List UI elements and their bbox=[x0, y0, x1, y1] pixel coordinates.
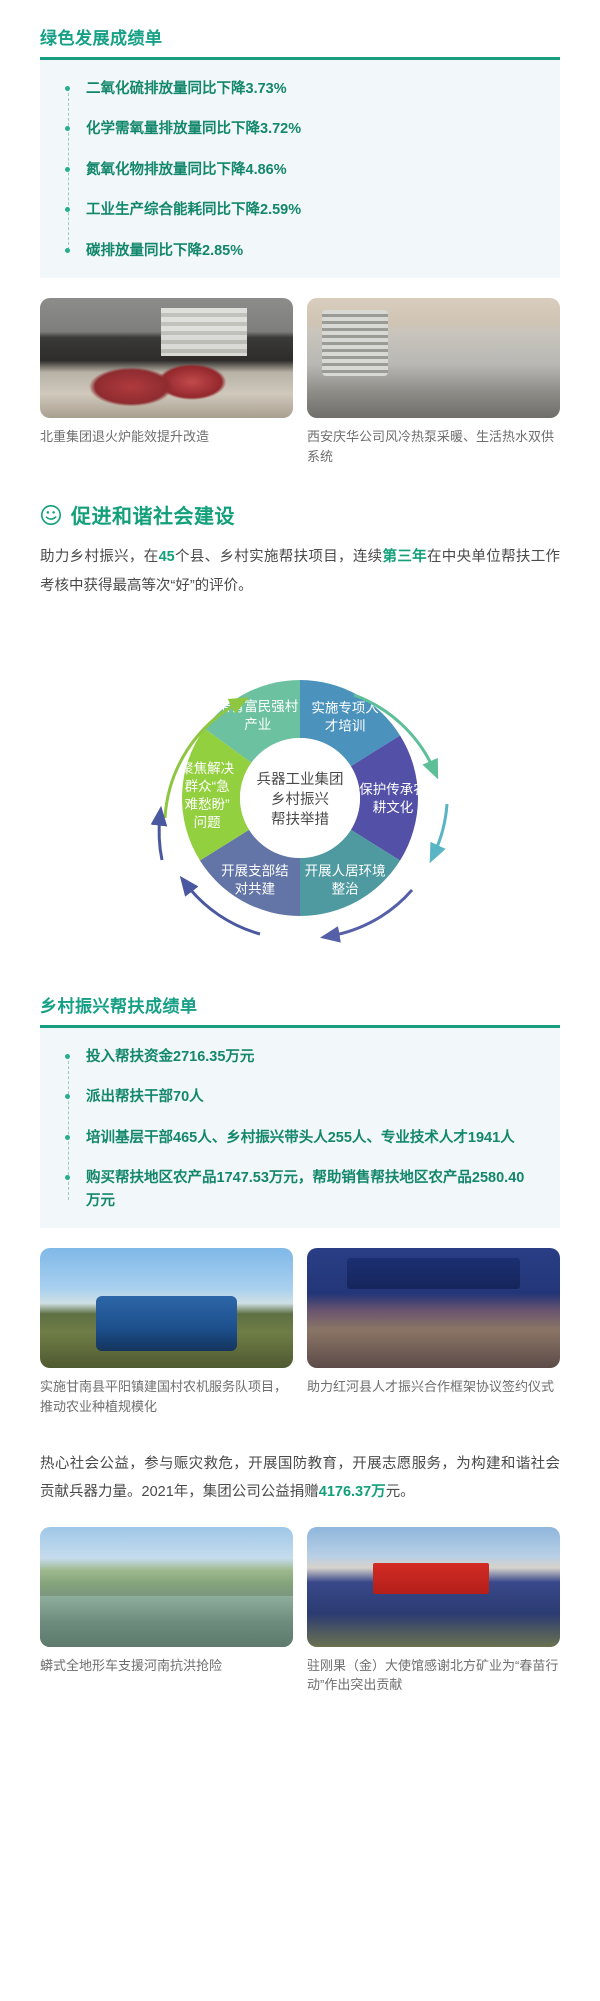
rural-scorecard-title: 乡村振兴帮扶成绩单 bbox=[40, 992, 600, 1017]
para-text: 元。 bbox=[386, 1484, 415, 1500]
harmony-section-heading: 促进和谐社会建设 bbox=[40, 500, 560, 529]
flow-arrow-6 bbox=[159, 816, 162, 860]
photo-cell: 蟒式全地形车支援河南抗洪抢险 bbox=[40, 1527, 293, 1695]
green-scorecard-title: 绿色发展成绩单 bbox=[40, 24, 600, 49]
green-scorecard-list: 二氧化硫排放量同比下降3.73% 化学需氧量排放量同比下降3.72% 氮氧化物排… bbox=[40, 78, 560, 262]
wheel-center-line-2: 乡村振兴 bbox=[271, 791, 329, 808]
photo-caption: 西安庆华公司风冷热泵采暖、生活热水双供系统 bbox=[307, 427, 560, 466]
report-page: 绿色发展成绩单 二氧化硫排放量同比下降3.73% 化学需氧量排放量同比下降3.7… bbox=[0, 0, 600, 2001]
list-item: 工业生产综合能耗同比下降2.59% bbox=[64, 199, 534, 221]
rural-revitalization-wheel: 兵器工业集团 乡村振兴 帮扶举措 培育富民强村产业实施专项人才培训保护传承农耕文… bbox=[0, 618, 600, 958]
smiley-face-icon bbox=[40, 504, 62, 526]
rural-photo-row: 实施甘南县平阳镇建国村农机服务队项目，推动农业种植规模化 助力红河县人才振兴合作… bbox=[40, 1248, 560, 1416]
list-item: 碳排放量同比下降2.85% bbox=[64, 240, 534, 262]
harmony-section-title: 促进和谐社会建设 bbox=[71, 500, 235, 529]
photo-caption: 助力红河县人才振兴合作框架协议签约仪式 bbox=[307, 1377, 560, 1397]
vaccination-photo bbox=[307, 1527, 560, 1647]
green-scorecard-panel: 二氧化硫排放量同比下降3.73% 化学需氧量排放量同比下降3.72% 氮氧化物排… bbox=[40, 60, 560, 278]
photo-cell: 西安庆华公司风冷热泵采暖、生活热水双供系统 bbox=[307, 298, 560, 466]
factory-furnace-photo bbox=[40, 298, 293, 418]
charity-paragraph: 热心社会公益，参与赈灾救危，开展国防教育，开展志愿服务，为构建和谐社会贡献兵器力… bbox=[40, 1450, 560, 1507]
photo-caption: 实施甘南县平阳镇建国村农机服务队项目，推动农业种植规模化 bbox=[40, 1377, 293, 1416]
para-highlight: 4176.37万 bbox=[319, 1484, 386, 1500]
list-item: 购买帮扶地区农产品1747.53万元，帮助销售帮扶地区农产品2580.40万元 bbox=[64, 1167, 534, 1212]
list-item: 化学需氧量排放量同比下降3.72% bbox=[64, 118, 534, 140]
signing-ceremony-photo bbox=[307, 1248, 560, 1368]
para-text: 热心社会公益，参与赈灾救危，开展国防教育，开展志愿服务，为构建和谐社会贡献兵器力… bbox=[40, 1456, 560, 1500]
wheel-segment-label-line: 开展支部结 bbox=[221, 863, 289, 878]
rural-scorecard-list: 投入帮扶资金2716.35万元 派出帮扶干部70人 培训基层干部465人、乡村振… bbox=[40, 1046, 560, 1212]
wheel-segment-label-line: 对共建 bbox=[235, 881, 276, 896]
harmony-paragraph: 助力乡村振兴，在45个县、乡村实施帮扶项目，连续第三年在中央单位帮扶工作考核中获… bbox=[40, 543, 560, 600]
wheel-diagram-svg: 兵器工业集团 乡村振兴 帮扶举措 培育富民强村产业实施专项人才培训保护传承农耕文… bbox=[90, 618, 510, 958]
wheel-segment-label-line: 产业 bbox=[244, 717, 271, 732]
list-item: 二氧化硫排放量同比下降3.73% bbox=[64, 78, 534, 100]
para-text: 助力乡村振兴，在 bbox=[40, 549, 159, 565]
flood-rescue-photo bbox=[40, 1527, 293, 1647]
photo-cell: 实施甘南县平阳镇建国村农机服务队项目，推动农业种植规模化 bbox=[40, 1248, 293, 1416]
flow-arrow-3 bbox=[434, 804, 447, 854]
wheel-segment-label-line: 聚焦解决 bbox=[180, 761, 234, 776]
para-text: 个县、乡村实施帮扶项目，连续 bbox=[175, 549, 383, 565]
para-highlight: 45 bbox=[159, 549, 175, 565]
wheel-segment-label-line: 整治 bbox=[332, 881, 359, 896]
wheel-center-line-3: 帮扶举措 bbox=[271, 811, 329, 828]
list-item: 投入帮扶资金2716.35万元 bbox=[64, 1046, 534, 1068]
wheel-segment-label-line: 难愁盼” bbox=[185, 797, 230, 812]
photo-caption: 驻刚果（金）大使馆感谢北方矿业为“春苗行动”作出突出贡献 bbox=[307, 1656, 560, 1695]
photo-caption: 北重集团退火炉能效提升改造 bbox=[40, 427, 293, 447]
heat-pump-photo bbox=[307, 298, 560, 418]
list-item: 培训基层干部465人、乡村振兴带头人255人、专业技术人才1941人 bbox=[64, 1127, 534, 1149]
photo-caption: 蟒式全地形车支援河南抗洪抢险 bbox=[40, 1656, 293, 1676]
green-photo-row: 北重集团退火炉能效提升改造 西安庆华公司风冷热泵采暖、生活热水双供系统 bbox=[40, 298, 560, 466]
wheel-segment-label-line: 保护传承农 bbox=[359, 782, 427, 797]
wheel-segment-label-line: 开展人居环境 bbox=[305, 863, 386, 878]
photo-cell: 助力红河县人才振兴合作框架协议签约仪式 bbox=[307, 1248, 560, 1416]
list-item: 氮氧化物排放量同比下降4.86% bbox=[64, 159, 534, 181]
wheel-segment-label-line: 群众“急 bbox=[185, 779, 230, 794]
photo-cell: 北重集团退火炉能效提升改造 bbox=[40, 298, 293, 466]
photo-cell: 驻刚果（金）大使馆感谢北方矿业为“春苗行动”作出突出贡献 bbox=[307, 1527, 560, 1695]
wheel-segment-label-line: 培育富民强村 bbox=[217, 698, 298, 714]
wheel-segment-label-line: 耕文化 bbox=[373, 799, 414, 815]
charity-photo-row: 蟒式全地形车支援河南抗洪抢险 驻刚果（金）大使馆感谢北方矿业为“春苗行动”作出突… bbox=[40, 1527, 560, 1695]
wheel-center-line-1: 兵器工业集团 bbox=[257, 771, 344, 788]
wheel-segment-label-line: 才培训 bbox=[325, 719, 366, 734]
tractor-photo bbox=[40, 1248, 293, 1368]
list-item: 派出帮扶干部70人 bbox=[64, 1086, 534, 1108]
rural-scorecard-panel: 投入帮扶资金2716.35万元 派出帮扶干部70人 培训基层干部465人、乡村振… bbox=[40, 1028, 560, 1228]
wheel-segment-label-line: 问题 bbox=[194, 815, 221, 830]
para-highlight: 第三年 bbox=[383, 549, 427, 565]
